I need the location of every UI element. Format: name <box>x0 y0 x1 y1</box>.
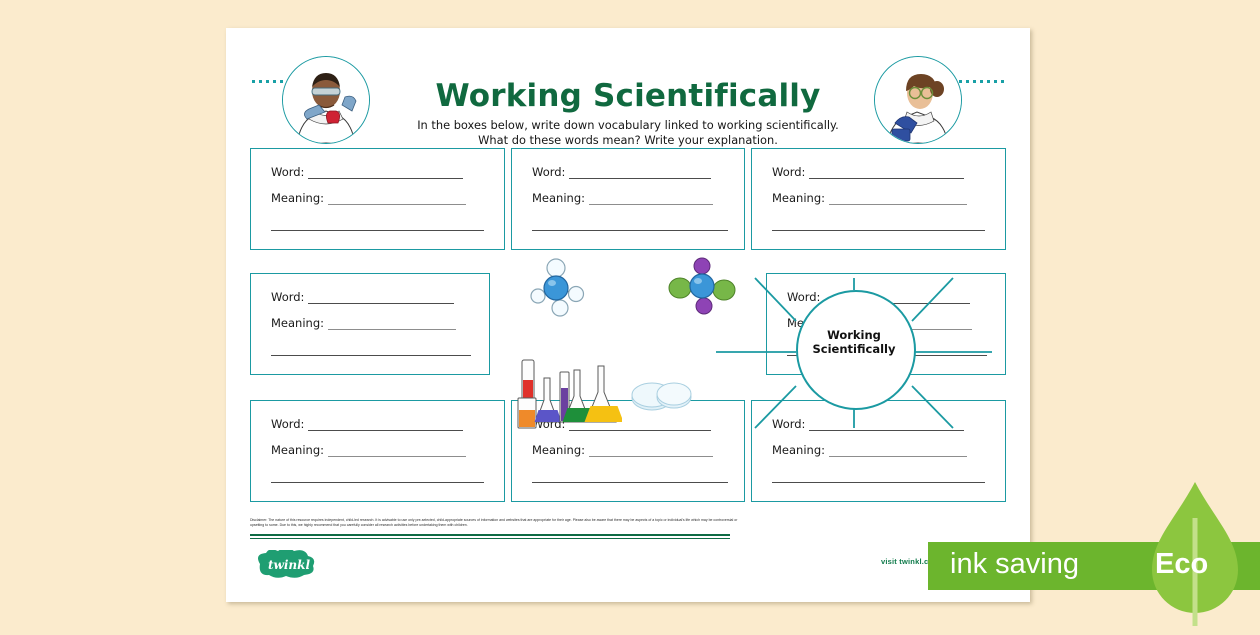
word-label: Word: <box>271 165 304 179</box>
molecule-right-illustration <box>666 254 738 325</box>
centre-label-line-2: Scientifically <box>813 342 896 356</box>
screenshot-root: Working Scientifically In the boxes belo… <box>0 0 1260 630</box>
word-label: Word: <box>271 417 304 431</box>
word-input-line[interactable] <box>308 167 463 179</box>
eco-badge-text: ink saving <box>950 548 1079 581</box>
meaning-label: Meaning: <box>271 191 324 205</box>
petri-dishes-illustration <box>630 380 692 417</box>
twinkl-wordmark: twinkl <box>268 558 310 572</box>
word-input-line[interactable] <box>308 419 463 431</box>
beakers-illustration <box>516 358 622 441</box>
word-input-line[interactable] <box>308 292 454 304</box>
centre-label-line-1: Working <box>827 328 881 342</box>
centre-node-label: Working Scientifically <box>796 328 912 356</box>
twinkl-logo[interactable]: twinkl <box>252 550 326 578</box>
meaning-input-line-1[interactable] <box>328 193 466 205</box>
meaning-input-line-1[interactable] <box>328 445 466 457</box>
word-label: Word: <box>271 290 304 304</box>
meaning-label: Meaning: <box>271 316 324 330</box>
eco-badge-word: Eco <box>1155 548 1208 581</box>
meaning-input-line-1[interactable] <box>328 318 456 330</box>
meaning-label: Meaning: <box>271 443 324 457</box>
molecule-left-illustration <box>526 258 592 323</box>
worksheet-page: Working Scientifically In the boxes belo… <box>226 28 1030 602</box>
meaning-input-line-2[interactable] <box>271 354 471 356</box>
